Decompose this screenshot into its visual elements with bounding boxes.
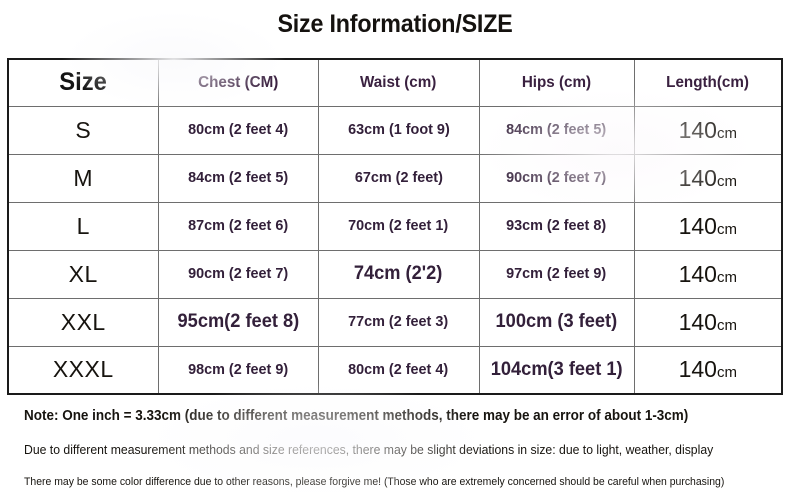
page-title: Size Information/SIZE [28, 10, 763, 39]
length-value: 140cm [679, 269, 737, 286]
hips-value: 100cm (3 feet) [496, 311, 618, 333]
table-row: XL 90cm (2 feet 7) 74cm (2'2) 97cm (2 fe… [8, 250, 782, 298]
length-unit: cm [717, 173, 737, 190]
cell-size: S [8, 106, 158, 154]
length-value: 140cm [679, 317, 737, 334]
length-unit: cm [717, 317, 737, 334]
cell-chest: 84cm (2 feet 5) [158, 154, 318, 202]
size-label: S [75, 117, 91, 143]
column-header-chest-label: Chest (CM) [198, 74, 278, 92]
length-unit: cm [717, 269, 737, 286]
cell-hips: 104cm(3 feet 1) [479, 346, 634, 394]
chest-value: 87cm (2 feet 6) [188, 217, 288, 234]
column-header-size-label: Size [59, 68, 107, 97]
column-header-size: Size [8, 59, 158, 106]
cell-length: 140cm [634, 346, 782, 394]
note-size-deviation: Due to different measurement methods and… [24, 442, 729, 457]
cell-chest: 80cm (2 feet 4) [158, 106, 318, 154]
chest-value: 95cm(2 feet 8) [177, 311, 299, 333]
column-header-length: Length(cm) [634, 59, 782, 106]
length-value: 140cm [679, 364, 737, 381]
length-unit: cm [717, 364, 737, 381]
size-label: L [77, 213, 90, 239]
size-chart-table: Size Chest (CM) Waist (cm) Hips (cm) Len… [7, 58, 783, 395]
header-row: Size Chest (CM) Waist (cm) Hips (cm) Len… [8, 59, 782, 106]
cell-size: XXL [8, 298, 158, 346]
chest-value: 90cm (2 feet 7) [188, 265, 288, 282]
cell-length: 140cm [634, 202, 782, 250]
cell-chest: 87cm (2 feet 6) [158, 202, 318, 250]
table-row: XXL 95cm(2 feet 8) 77cm (2 feet 3) 100cm… [8, 298, 782, 346]
table-body: S 80cm (2 feet 4) 63cm (1 foot 9) 84cm (… [8, 106, 782, 394]
cell-waist: 67cm (2 feet) [318, 154, 479, 202]
cell-length: 140cm [634, 250, 782, 298]
hips-value: 84cm (2 feet 5) [506, 121, 606, 138]
length-number: 140 [679, 165, 717, 191]
size-chart-table-container: Size Chest (CM) Waist (cm) Hips (cm) Len… [7, 58, 781, 393]
cell-size: XXXL [8, 346, 158, 394]
hips-value: 97cm (2 feet 9) [506, 265, 606, 282]
cell-size: L [8, 202, 158, 250]
note-color-difference: There may be some color difference due t… [24, 476, 737, 488]
cell-length: 140cm [634, 154, 782, 202]
waist-value: 63cm (1 foot 9) [348, 121, 450, 138]
length-number: 140 [679, 356, 717, 382]
cell-hips: 84cm (2 feet 5) [479, 106, 634, 154]
cell-hips: 90cm (2 feet 7) [479, 154, 634, 202]
column-header-hips: Hips (cm) [479, 59, 634, 106]
cell-waist: 80cm (2 feet 4) [318, 346, 479, 394]
column-header-waist: Waist (cm) [318, 59, 479, 106]
footer-notes: Note: One inch = 3.33cm (due to differen… [24, 402, 774, 488]
cell-waist: 77cm (2 feet 3) [318, 298, 479, 346]
cell-chest: 90cm (2 feet 7) [158, 250, 318, 298]
hips-value: 93cm (2 feet 8) [506, 217, 606, 234]
column-header-chest: Chest (CM) [158, 59, 318, 106]
column-header-length-label: Length(cm) [666, 74, 749, 92]
note-measurement-conversion: Note: One inch = 3.33cm (due to differen… [24, 408, 722, 424]
table-row: M 84cm (2 feet 5) 67cm (2 feet) 90cm (2 … [8, 154, 782, 202]
table-header: Size Chest (CM) Waist (cm) Hips (cm) Len… [8, 59, 782, 106]
cell-waist: 74cm (2'2) [318, 250, 479, 298]
length-number: 140 [679, 117, 717, 143]
cell-length: 140cm [634, 298, 782, 346]
chest-value: 84cm (2 feet 5) [188, 169, 288, 186]
length-value: 140cm [679, 221, 737, 238]
chest-value: 98cm (2 feet 9) [188, 361, 288, 378]
size-label: XXL [61, 309, 106, 335]
waist-value: 67cm (2 feet) [354, 169, 442, 186]
cell-waist: 63cm (1 foot 9) [318, 106, 479, 154]
waist-value: 80cm (2 feet 4) [348, 361, 448, 378]
length-unit: cm [717, 221, 737, 238]
length-number: 140 [679, 261, 717, 287]
cell-size: M [8, 154, 158, 202]
length-value: 140cm [679, 173, 737, 190]
waist-value: 70cm (2 feet 1) [348, 217, 448, 234]
cell-hips: 100cm (3 feet) [479, 298, 634, 346]
length-unit: cm [717, 125, 737, 142]
waist-value: 77cm (2 feet 3) [348, 313, 448, 330]
length-number: 140 [679, 213, 717, 239]
cell-chest: 95cm(2 feet 8) [158, 298, 318, 346]
column-header-hips-label: Hips (cm) [522, 74, 591, 92]
cell-hips: 93cm (2 feet 8) [479, 202, 634, 250]
hips-value: 104cm(3 feet 1) [491, 359, 623, 381]
cell-size: XL [8, 250, 158, 298]
cell-hips: 97cm (2 feet 9) [479, 250, 634, 298]
size-label: XL [69, 261, 98, 287]
cell-chest: 98cm (2 feet 9) [158, 346, 318, 394]
column-header-waist-label: Waist (cm) [360, 74, 436, 92]
table-row: S 80cm (2 feet 4) 63cm (1 foot 9) 84cm (… [8, 106, 782, 154]
length-value: 140cm [679, 125, 737, 142]
chest-value: 80cm (2 feet 4) [188, 121, 288, 138]
size-label: M [73, 165, 93, 191]
table-row: L 87cm (2 feet 6) 70cm (2 feet 1) 93cm (… [8, 202, 782, 250]
cell-waist: 70cm (2 feet 1) [318, 202, 479, 250]
waist-value: 74cm (2'2) [354, 263, 443, 285]
table-row: XXXL 98cm (2 feet 9) 80cm (2 feet 4) 104… [8, 346, 782, 394]
hips-value: 90cm (2 feet 7) [506, 169, 606, 186]
size-label: XXXL [53, 356, 114, 382]
length-number: 140 [679, 309, 717, 335]
cell-length: 140cm [634, 106, 782, 154]
